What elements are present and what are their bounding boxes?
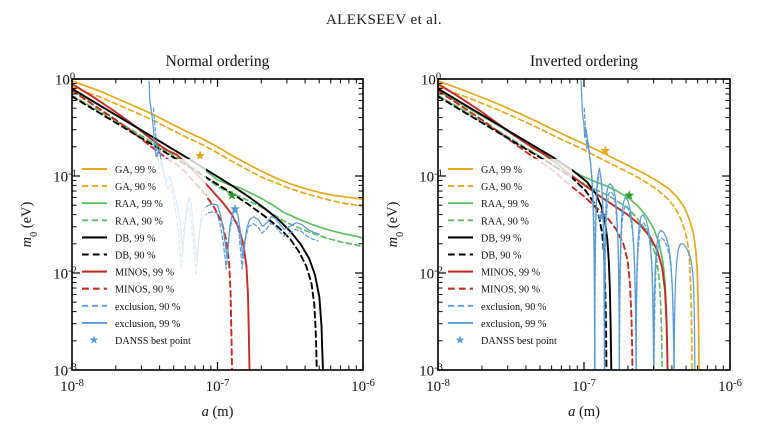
y-tick-label-text: 10-2: [419, 265, 443, 283]
y-tick-label-text: 10-3: [419, 362, 443, 380]
y-tick-label: 10-1: [419, 168, 443, 186]
figure-svg: Normal orderingGA, 99 %GA, 90 %RAA, 99 %…: [0, 40, 768, 439]
legend-label: MINOS, 90 %: [481, 285, 541, 296]
legend-label: GA, 90 %: [115, 182, 157, 193]
y-tick-label: 10-3: [53, 362, 77, 380]
legend-label: DB, 90 %: [481, 251, 522, 262]
y-tick-label-text: 10-1: [53, 168, 77, 186]
y-tick-label: 10-2: [419, 265, 443, 283]
panel-title-normal-ordering: Normal ordering: [166, 53, 270, 70]
legend-label: GA, 99 %: [481, 165, 523, 176]
x-axis-label: a (m): [202, 404, 234, 420]
legend-label: MINOS, 90 %: [115, 285, 175, 296]
legend-label: GA, 90 %: [481, 182, 523, 193]
legend-label: RAA, 99 %: [481, 199, 529, 210]
legend-label: DANSS best point: [481, 336, 557, 347]
legend-label: exclusion, 99 %: [115, 319, 181, 330]
x-tick-label: 10-6: [351, 378, 375, 396]
legend-inverted-ordering: GA, 99 %GA, 90 %RAA, 99 %RAA, 90 %DB, 99…: [443, 159, 572, 354]
legend-label: RAA, 99 %: [115, 199, 163, 210]
legend-label: exclusion, 90 %: [481, 302, 547, 313]
y-tick-label-text: 10-1: [419, 168, 443, 186]
y-axis-label: m0 (eV): [19, 201, 40, 247]
x-tick-label: 10-7: [206, 378, 230, 396]
page-header-title: ALEKSEEV et al.: [326, 12, 442, 28]
marker-star-ga-best-point: [195, 150, 205, 159]
x-tick-label-text: 10-7: [206, 378, 230, 396]
x-tick-label-text: 10-6: [351, 378, 375, 396]
x-tick-label: 10-7: [572, 378, 596, 396]
x-tick-label: 10-6: [718, 378, 742, 396]
panel-title-inverted-ordering: Inverted ordering: [530, 53, 638, 70]
legend-label: MINOS, 99 %: [481, 268, 541, 279]
legend-normal-ordering: GA, 99 %GA, 90 %RAA, 99 %RAA, 90 %DB, 99…: [77, 159, 206, 354]
x-tick-label-text: 10-7: [572, 378, 596, 396]
x-tick-label-text: 10-8: [60, 378, 84, 396]
legend-label: RAA, 90 %: [481, 216, 529, 227]
y-tick-label-text: 10-3: [53, 362, 77, 380]
x-axis-label: a (m): [568, 404, 600, 420]
x-tick-label: 10-8: [60, 378, 84, 396]
y-tick-label: 10-3: [419, 362, 443, 380]
figure-container: Normal orderingGA, 99 %GA, 90 %RAA, 99 %…: [0, 40, 768, 439]
x-tick-label: 10-8: [426, 378, 450, 396]
legend-label: RAA, 90 %: [115, 216, 163, 227]
legend-label: GA, 99 %: [115, 165, 157, 176]
legend-label: MINOS, 99 %: [115, 268, 175, 279]
legend-label: DB, 99 %: [481, 233, 522, 244]
legend-label: DANSS best point: [115, 336, 191, 347]
legend-label: exclusion, 99 %: [481, 319, 547, 330]
y-tick-label: 10-1: [53, 168, 77, 186]
panel-inverted-ordering: Inverted orderingGA, 99 %GA, 90 %RAA, 99…: [385, 53, 742, 420]
y-axis-label: m0 (eV): [385, 201, 406, 247]
curve-exclusion-99-: [581, 81, 695, 370]
legend-label: DB, 90 %: [115, 251, 156, 262]
y-tick-label-text: 10-2: [53, 265, 77, 283]
legend-label: exclusion, 90 %: [115, 302, 181, 313]
y-tick-label: 10-2: [53, 265, 77, 283]
page-header: ALEKSEEV et al.: [0, 12, 768, 29]
x-tick-label-text: 10-6: [718, 378, 742, 396]
x-tick-label-text: 10-8: [426, 378, 450, 396]
panel-normal-ordering: Normal orderingGA, 99 %GA, 90 %RAA, 99 %…: [19, 53, 375, 420]
legend-label: DB, 99 %: [115, 233, 156, 244]
